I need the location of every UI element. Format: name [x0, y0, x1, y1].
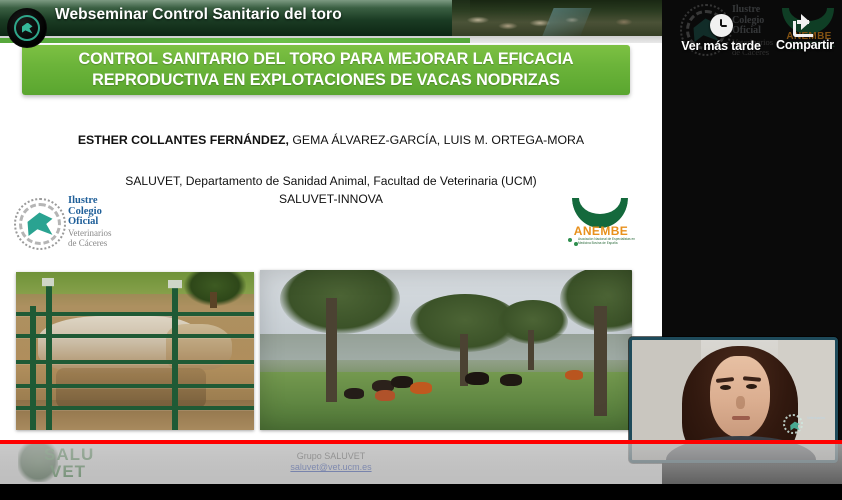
webcam-watermark-icon: Veterinarios: [783, 414, 829, 436]
colegio-veterinarios-caceres-seal-icon: [7, 8, 47, 48]
logo-anembe: ANEMBE Asociación Nacional de Especialis…: [566, 198, 636, 254]
colegio-line-5: de Cáceres: [68, 238, 111, 249]
author-lead: ESTHER COLLANTES FERNÁNDEZ,: [78, 133, 289, 147]
slide-title-line-1: CONTROL SANITARIO DEL TORO PARA MEJORAR …: [79, 49, 574, 70]
presentation-slide: Webseminar Control Sanitario del toro CO…: [0, 0, 662, 484]
player-control-bar: EN VIVO YouTube: [0, 440, 842, 484]
share-label: Compartir: [768, 38, 842, 52]
colegio-line-3: Oficial: [68, 217, 111, 228]
slide-authors: ESTHER COLLANTES FERNÁNDEZ, GEMA ÁLVAREZ…: [0, 133, 662, 147]
watch-later-label: Ver más tarde: [666, 39, 776, 53]
bull-in-chute-photo: [16, 272, 254, 430]
progress-bar-track[interactable]: [0, 440, 842, 444]
colegio-line-1: Ilustre: [68, 196, 111, 207]
anembe-subtitle: Asociación Nacional de Especialistas en …: [578, 237, 636, 245]
banner-green-underline: [0, 36, 662, 43]
youtube-live-player: Webseminar Control Sanitario del toro CO…: [0, 0, 842, 500]
clock-icon: [710, 14, 733, 37]
watch-later-button[interactable]: Ver más tarde: [666, 14, 776, 53]
slide-title: CONTROL SANITARIO DEL TORO PARA MEJORAR …: [22, 45, 630, 95]
affiliation-line-1: SALUVET, Departamento de Sanidad Animal,…: [0, 172, 662, 190]
anembe-name: ANEMBE: [566, 224, 636, 238]
banner-title: Webseminar Control Sanitario del toro: [55, 6, 342, 24]
progress-bar-fill: [0, 440, 842, 444]
player-letterbox-bottom: [0, 484, 842, 500]
banner-cattle-photo: [452, 0, 662, 36]
authors-rest: GEMA ÁLVAREZ-GARCÍA, LUIS M. ORTEGA-MORA: [289, 133, 584, 147]
webcam-watermark-text: Veterinarios: [807, 416, 829, 420]
share-arrow-icon: [792, 14, 818, 36]
colegio-line-4: Veterinarios: [68, 228, 111, 239]
cattle-herd-dehesa-photo: [260, 270, 632, 430]
logo-colegio-veterinarios: Ilustre Colegio Oficial Veterinarios de …: [14, 196, 132, 254]
colegio-seal-icon: [14, 198, 66, 250]
share-button[interactable]: Compartir: [768, 14, 842, 52]
slide-title-line-2: REPRODUCTIVA EN EXPLOTACIONES DE VACAS N…: [92, 70, 560, 91]
